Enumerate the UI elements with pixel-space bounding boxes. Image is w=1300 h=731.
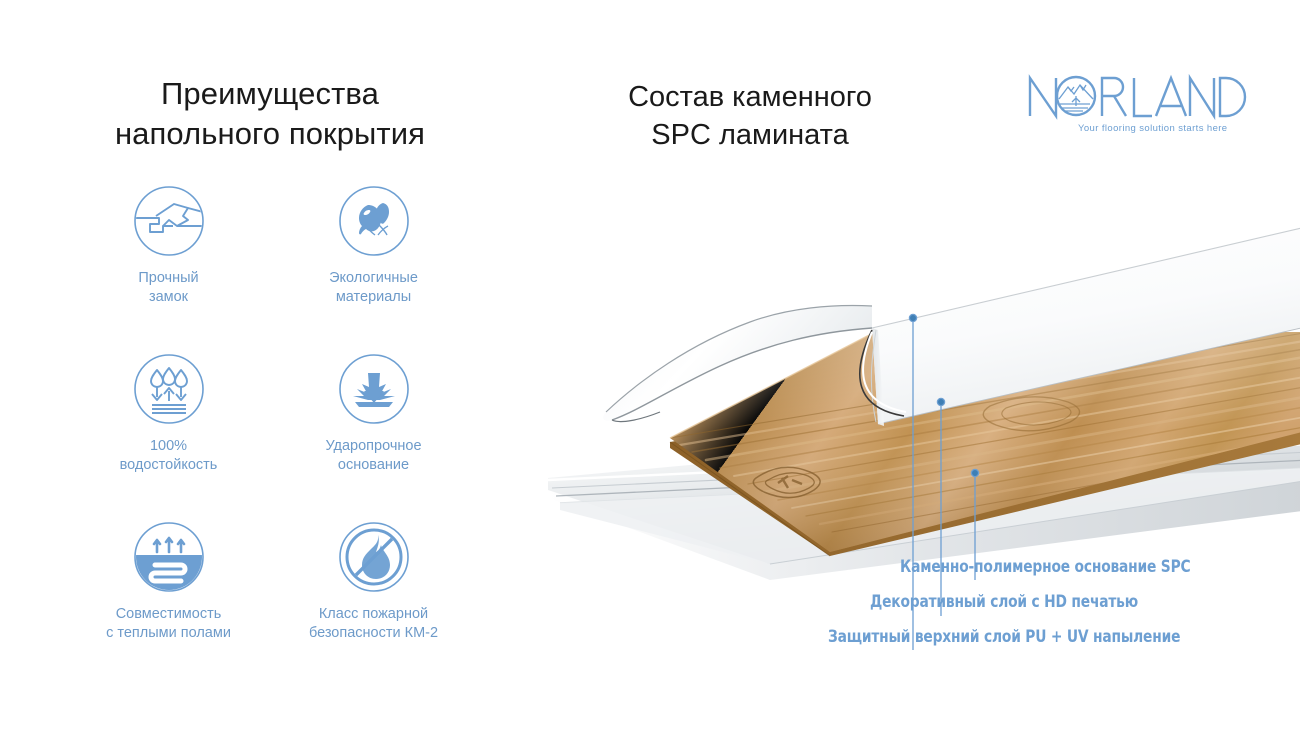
center-title-line-2: SPC ламината [560, 116, 940, 154]
feature-label: Ударопрочное основание [325, 437, 421, 475]
left-title-line-1: Преимущества [60, 74, 480, 114]
feature-item-underfloor-heating[interactable]: Совместимость с теплыми полами [66, 521, 271, 643]
feature-item-lock[interactable]: Прочный замок [66, 185, 271, 307]
feature-grid: Прочный замок Экологичные материалы [66, 185, 476, 643]
left-panel-title: Преимущества напольного покрытия [60, 74, 480, 154]
lock-click-icon [133, 185, 205, 257]
logo-tagline: Your flooring solution starts here [1078, 123, 1228, 134]
feature-item-impact[interactable]: Ударопрочное основание [271, 353, 476, 475]
callout-label-spc-base: Каменно-полимерное основание SPC [900, 557, 1190, 576]
center-title-line-1: Состав каменного [560, 78, 940, 116]
impact-arrow-icon [338, 353, 410, 425]
feature-item-waterproof[interactable]: 100% водостойкость [66, 353, 271, 475]
feature-label: 100% водостойкость [120, 437, 218, 475]
water-drops-icon [133, 353, 205, 425]
feature-label: Прочный замок [138, 269, 198, 307]
callout-label-protective-layer: Защитный верхний слой PU + UV напыление [828, 627, 1180, 646]
callout-group: Каменно-полимерное основание SPC Декорат… [520, 180, 1300, 680]
underfloor-heat-icon [133, 521, 205, 593]
callout-label-decorative-layer: Декоративный слой с HD печатью [870, 592, 1138, 611]
feature-label: Экологичные материалы [329, 269, 418, 307]
feature-label: Класс пожарной безопасности КМ-2 [309, 605, 438, 643]
feature-item-fire-safety[interactable]: Класс пожарной безопасности КМ-2 [271, 521, 476, 643]
feature-label: Совместимость с теплыми полами [106, 605, 231, 643]
left-title-line-2: напольного покрытия [60, 114, 480, 154]
center-panel-title: Состав каменного SPC ламината [560, 78, 940, 154]
norland-logo: Your flooring solution starts here [1020, 68, 1250, 138]
slide-canvas: Преимущества напольного покрытия Прочный [0, 0, 1300, 731]
no-fire-icon [338, 521, 410, 593]
feature-item-eco[interactable]: Экологичные материалы [271, 185, 476, 307]
eco-leaves-icon [338, 185, 410, 257]
